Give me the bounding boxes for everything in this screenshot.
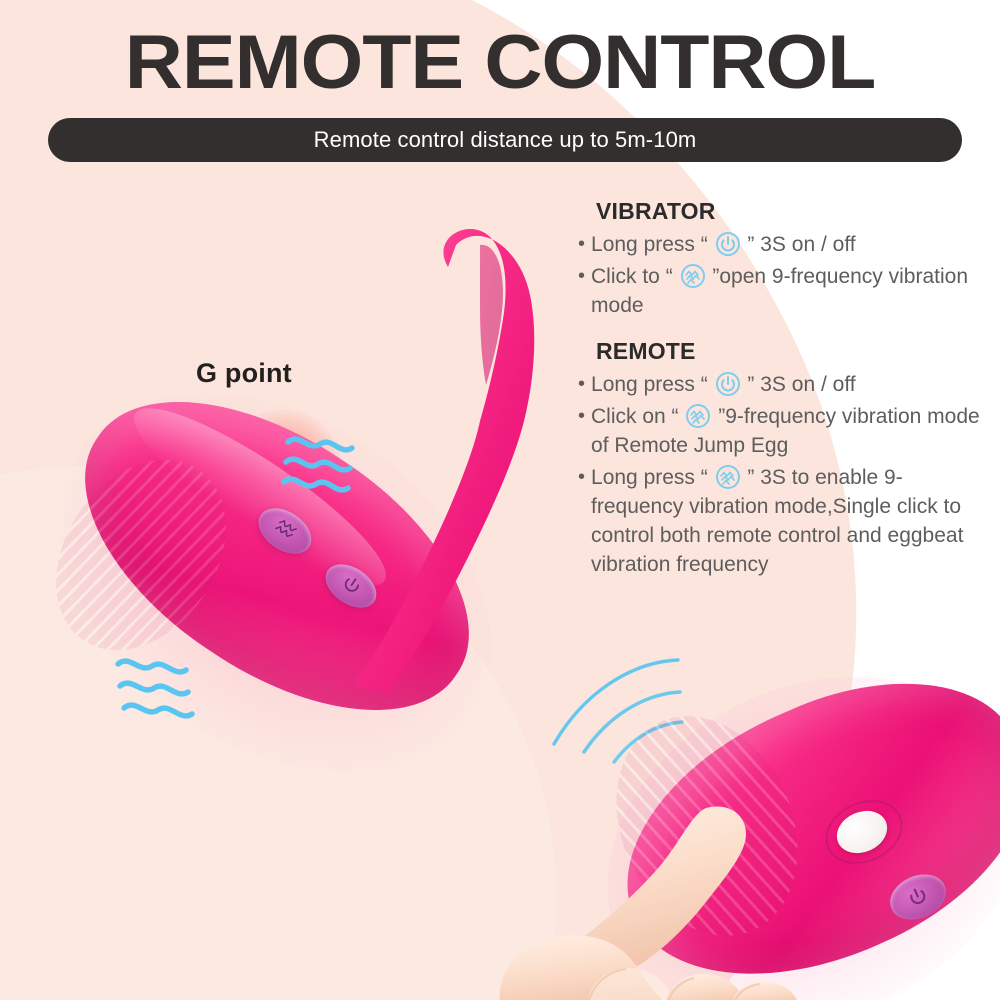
instruction-section-remote: REMOTE • Long press “ ” 3S on / off • Cl…: [578, 338, 990, 579]
power-icon: [901, 881, 935, 914]
bullet-text: Long press “ ” 3S on / off: [591, 230, 990, 259]
instruction-section-vibrator: VIBRATOR • Long press “ ” 3S on / off • …: [578, 198, 990, 320]
bullet-text: Click on “ ”9-frequency vibration mode o…: [591, 402, 990, 460]
vibration-wave-icon: [715, 464, 741, 490]
section-heading-remote: REMOTE: [596, 338, 990, 365]
hand-illustration: [470, 800, 890, 1000]
page-title: REMOTE CONTROL: [0, 20, 1000, 106]
list-item: • Click to “ ”open 9-frequency vibration…: [578, 262, 990, 320]
list-item: • Click on “ ”9-frequency vibration mode…: [578, 402, 990, 460]
power-icon: [715, 371, 741, 397]
bullet-dot: •: [578, 370, 585, 399]
vibration-waves-middle: [280, 428, 380, 516]
bullet-dot: •: [578, 402, 585, 431]
vibration-waves-left: [112, 652, 222, 744]
vibration-wave-icon: [268, 515, 302, 548]
bullet-dot: •: [578, 230, 585, 259]
list-item: • Long press “ ” 3S on / off: [578, 230, 990, 259]
g-point-label: G point: [196, 358, 292, 389]
power-icon: [334, 570, 368, 603]
bullet-dot: •: [578, 463, 585, 492]
power-icon: [715, 231, 741, 257]
subtitle-pill: Remote control distance up to 5m-10m: [48, 118, 962, 162]
section-heading-vibrator: VIBRATOR: [596, 198, 990, 225]
bullet-text: Long press “ ” 3S to enable 9-frequency …: [591, 463, 990, 579]
bullet-dot: •: [578, 262, 585, 291]
bullet-text: Long press “ ” 3S on / off: [591, 370, 990, 399]
list-item: • Long press “ ” 3S to enable 9-frequenc…: [578, 463, 990, 579]
subtitle-text: Remote control distance up to 5m-10m: [314, 127, 697, 153]
infographic-page: REMOTE CONTROL Remote control distance u…: [0, 0, 1000, 1000]
bullet-text: Click to “ ”open 9-frequency vibration m…: [591, 262, 990, 320]
instructions-panel: VIBRATOR • Long press “ ” 3S on / off • …: [578, 198, 990, 582]
list-item: • Long press “ ” 3S on / off: [578, 370, 990, 399]
vibration-wave-icon: [685, 403, 711, 429]
vibration-wave-icon: [680, 263, 706, 289]
